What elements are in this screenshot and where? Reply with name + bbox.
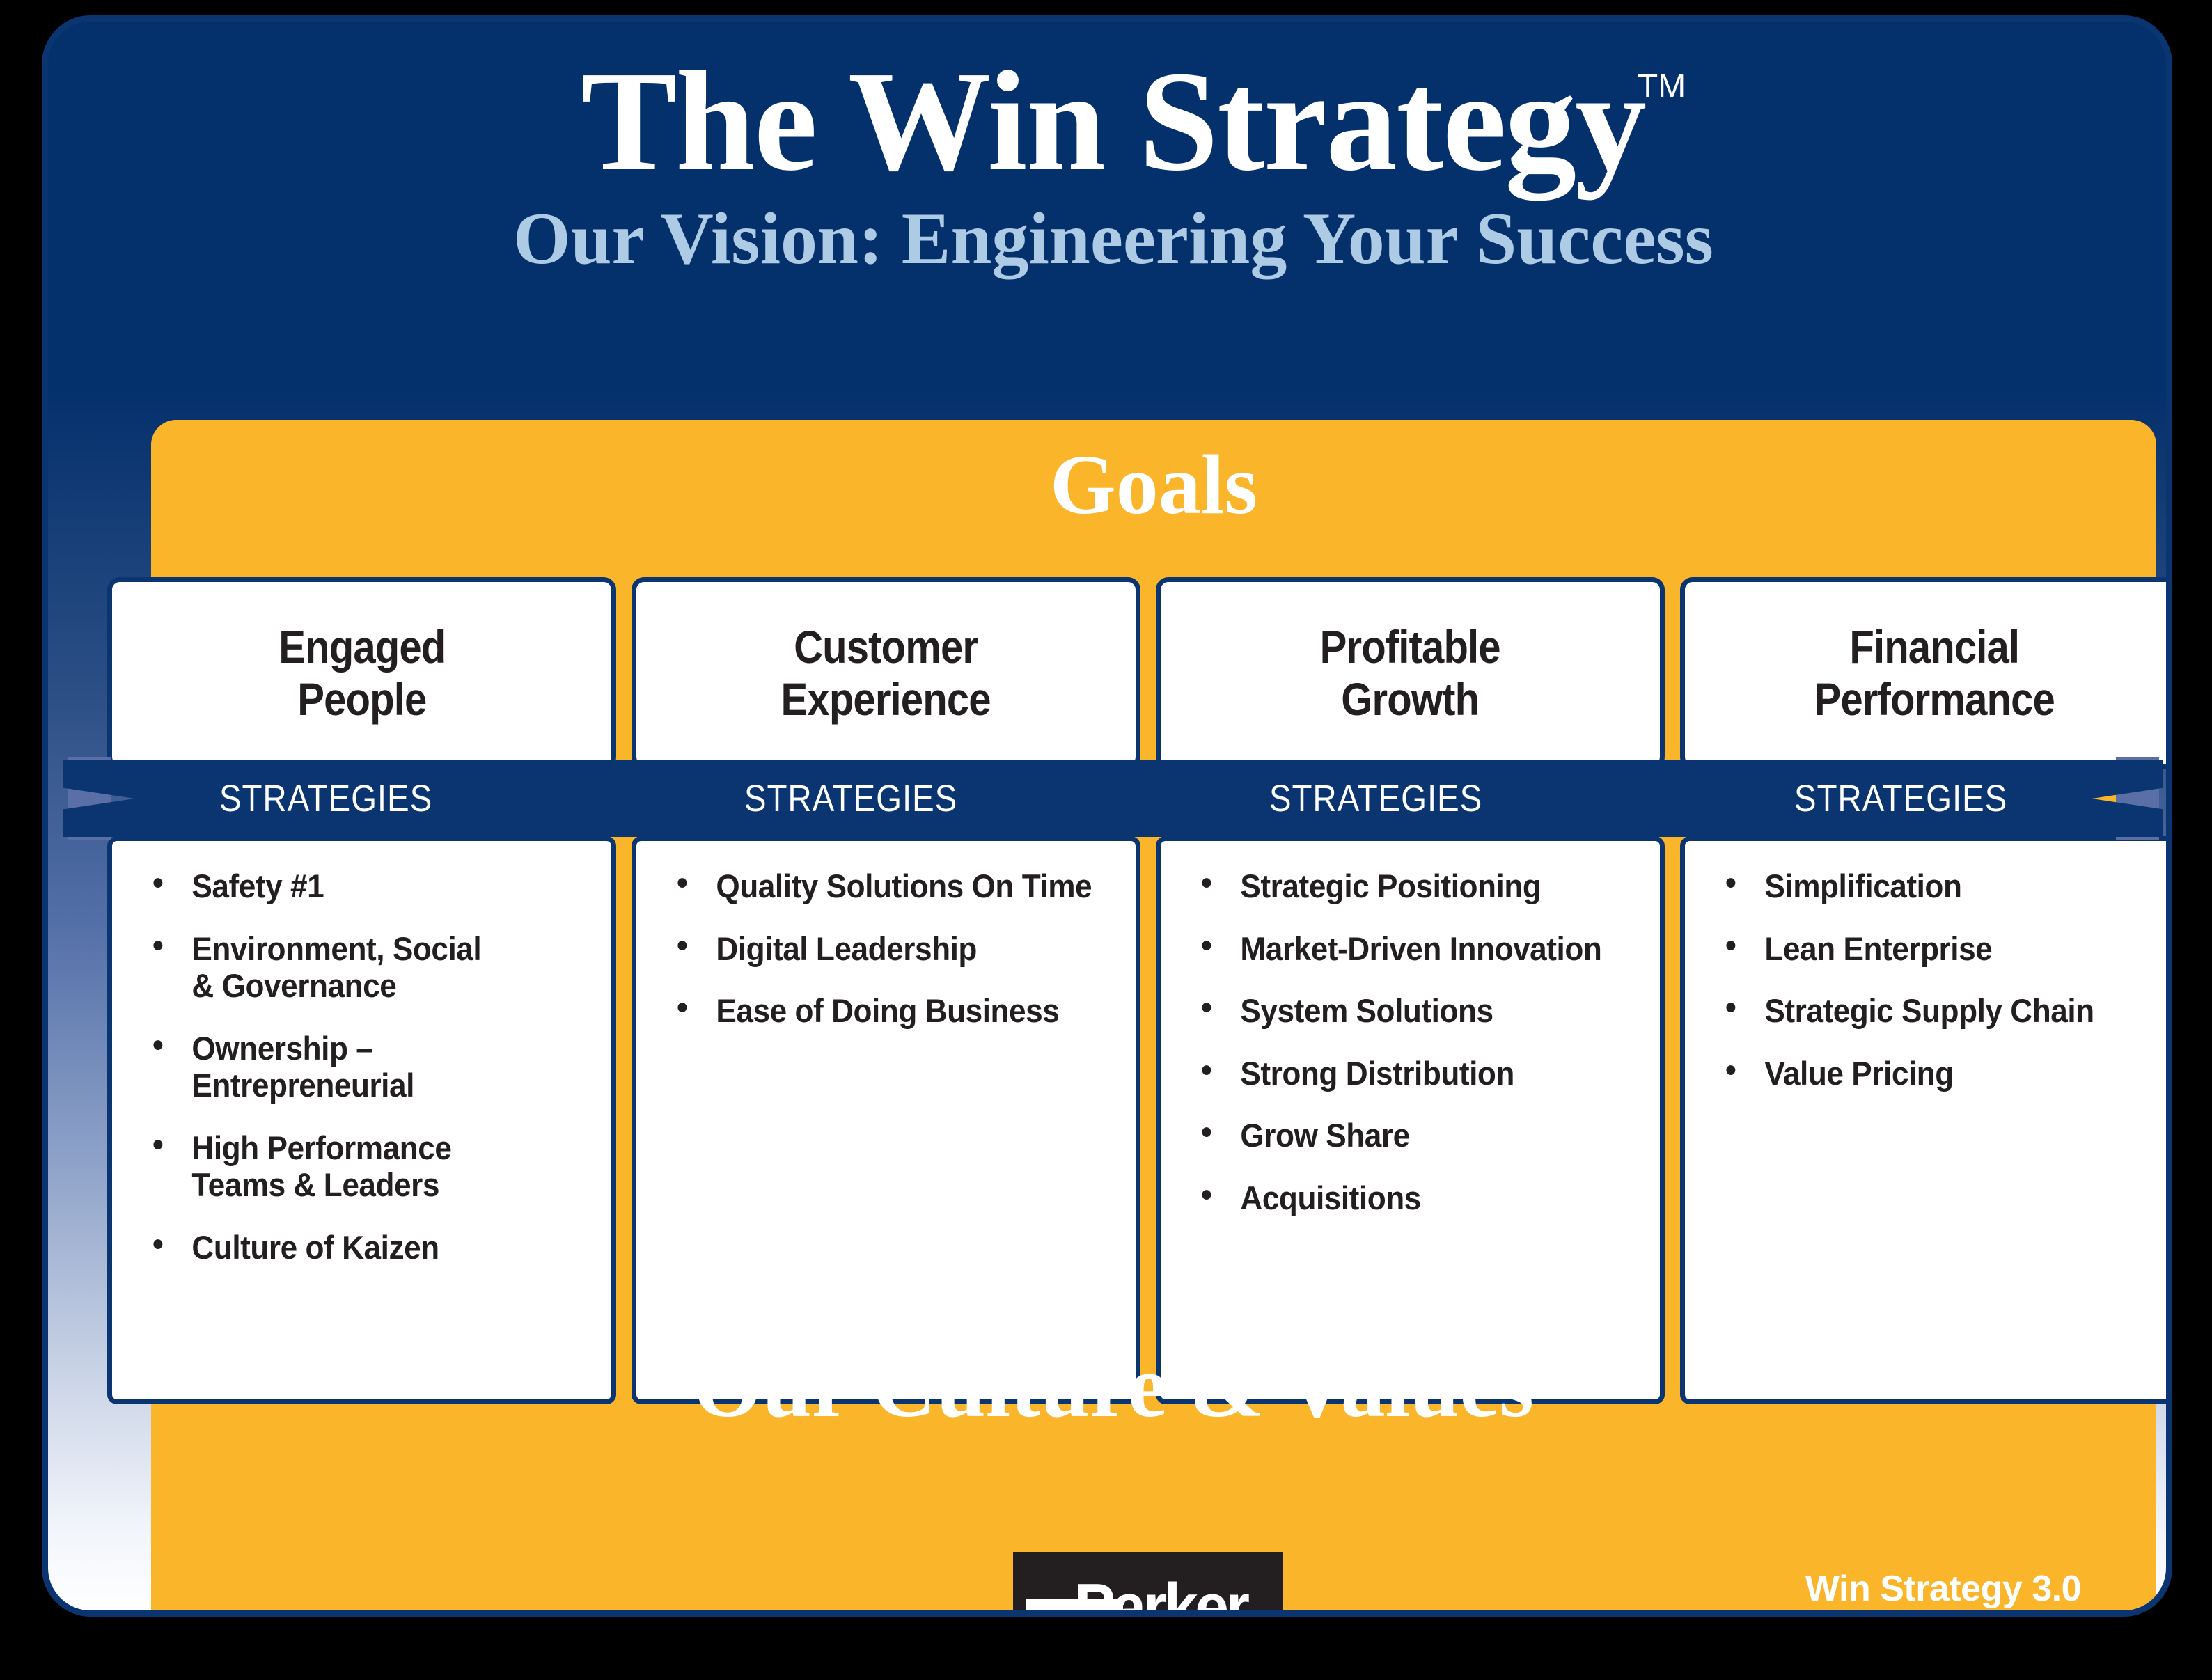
goal-card[interactable]: Customer Experience	[632, 577, 1140, 769]
goal-column-engaged-people: Engaged People Safety #1 Environment, So…	[107, 577, 616, 1404]
list-item: Ease of Doing Business	[677, 992, 1094, 1030]
parker-logo: Parker	[1013, 1552, 1283, 1617]
goal-title: Profitable Growth	[1320, 621, 1500, 725]
list-item: Simplification	[1725, 868, 2142, 905]
list-item: Value Pricing	[1725, 1055, 2142, 1092]
trademark-symbol: TM	[1638, 68, 1686, 106]
list-item: System Solutions	[1201, 992, 1618, 1030]
title-wrapper: The Win Strategy TM	[581, 48, 1645, 194]
list-item: Acquisitions	[1201, 1179, 1618, 1217]
poster-header: The Win Strategy TM Our Vision: Engineer…	[48, 22, 2172, 280]
ribbon-spacer	[1680, 769, 2172, 836]
list-item: Lean Enterprise	[1725, 930, 2142, 968]
strategies-list: Quality Solutions On Time Digital Leader…	[643, 868, 1129, 1030]
goal-column-profitable-growth: Profitable Growth Strategic Positioning …	[1156, 577, 1665, 1404]
ribbon-spacer	[632, 769, 1140, 836]
strategies-card: Quality Solutions On Time Digital Leader…	[632, 836, 1140, 1404]
list-item: Grow Share	[1201, 1117, 1618, 1154]
list-item: Culture of Kaizen	[152, 1229, 570, 1266]
goal-card[interactable]: Financial Performance	[1680, 577, 2172, 769]
version-block: Win Strategy 3.0 July 2024	[1805, 1566, 2081, 1617]
ribbon-spacer	[1156, 769, 1665, 836]
strategies-card: Strategic Positioning Market-Driven Inno…	[1156, 836, 1665, 1404]
goal-column-customer-experience: Customer Experience Quality Solutions On…	[632, 577, 1140, 1404]
page-title: The Win Strategy	[581, 48, 1645, 194]
goal-title: Customer Experience	[781, 621, 991, 725]
list-item: Digital Leadership	[677, 930, 1094, 968]
parker-wordmark: Parker	[1074, 1576, 1246, 1617]
date-label: July 2024	[1805, 1612, 2081, 1617]
goal-card[interactable]: Profitable Growth	[1156, 577, 1665, 769]
goal-title: Financial Performance	[1814, 621, 2055, 725]
goals-heading: Goals	[151, 420, 2156, 534]
goal-title: Engaged People	[279, 621, 445, 725]
goal-column-financial-performance: Financial Performance Simplification Lea…	[1680, 577, 2172, 1404]
list-item: Safety #1	[152, 868, 570, 905]
poster-frame: The Win Strategy TM Our Vision: Engineer…	[42, 15, 2172, 1617]
version-label: Win Strategy 3.0	[1805, 1566, 2081, 1612]
strategies-card: Safety #1 Environment, Social & Governan…	[107, 836, 616, 1404]
ribbon-spacer	[107, 769, 616, 836]
list-item: Environment, Social & Governance	[152, 930, 570, 1005]
strategies-card: Simplification Lean Enterprise Strategic…	[1680, 836, 2172, 1404]
list-item: Ownership – Entrepreneurial	[152, 1030, 570, 1104]
ribbon-tab-left	[68, 757, 111, 840]
strategies-list: Safety #1 Environment, Social & Governan…	[119, 868, 604, 1266]
list-item: Strategic Positioning	[1201, 868, 1618, 905]
list-item: Strong Distribution	[1201, 1055, 1618, 1092]
goal-card[interactable]: Engaged People	[107, 577, 616, 769]
list-item: Strategic Supply Chain	[1725, 992, 2142, 1030]
strategies-list: Strategic Positioning Market-Driven Inno…	[1168, 868, 1653, 1216]
win-strategy-poster: The Win Strategy TM Our Vision: Engineer…	[0, 0, 2212, 1680]
goal-columns: Engaged People Safety #1 Environment, So…	[107, 577, 2172, 1404]
vision-subtitle: Our Vision: Engineering Your Success	[48, 198, 2172, 280]
strategies-list: Simplification Lean Enterprise Strategic…	[1692, 868, 2172, 1092]
culture-values-heading: Our Culture & Values	[48, 1337, 2172, 1436]
list-item: Market-Driven Innovation	[1201, 930, 1618, 968]
list-item: Quality Solutions On Time	[677, 868, 1094, 905]
list-item: High Performance Teams & Leaders	[152, 1129, 570, 1204]
